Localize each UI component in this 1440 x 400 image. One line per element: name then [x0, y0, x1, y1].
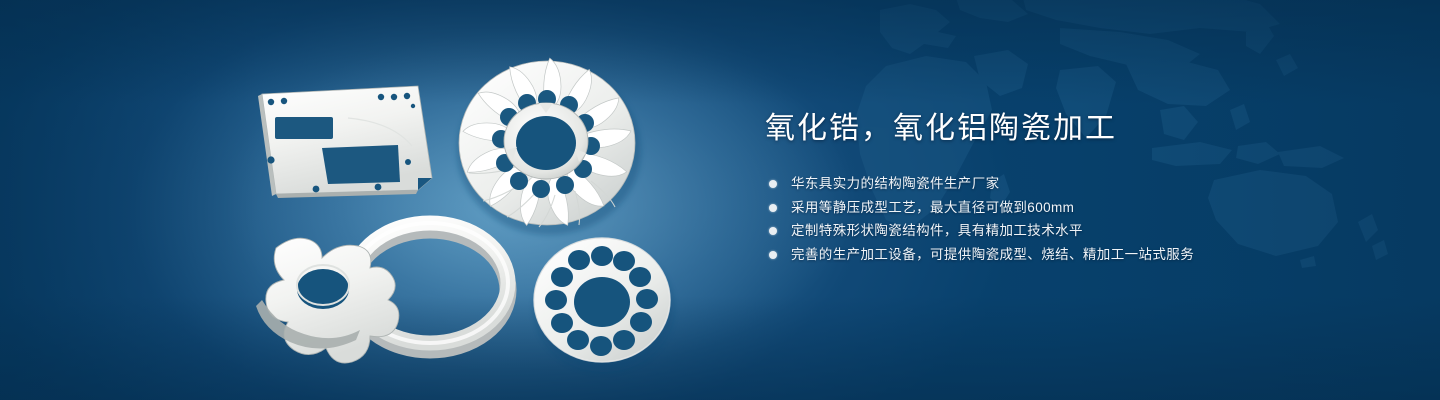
- feature-text: 完善的生产加工设备，可提供陶瓷成型、烧结、精加工一站式服务: [791, 247, 1194, 262]
- list-item: 定制特殊形状陶瓷结构件，具有精加工技术水平: [769, 219, 1385, 243]
- bullet-dot-icon: [769, 180, 777, 188]
- bullet-dot-icon: [769, 227, 777, 235]
- feature-text: 采用等静压成型工艺，最大直径可做到600mm: [791, 200, 1074, 215]
- banner-copy: 氧化锆，氧化铝陶瓷加工 华东具实力的结构陶瓷件生产厂家 采用等静压成型工艺，最大…: [765, 108, 1385, 266]
- feature-text: 华东具实力的结构陶瓷件生产厂家: [791, 176, 1000, 191]
- list-item: 完善的生产加工设备，可提供陶瓷成型、烧结、精加工一站式服务: [769, 243, 1385, 267]
- ceramic-products-image: [0, 0, 760, 400]
- ceramic-perforated-ring: [534, 238, 674, 372]
- feature-list: 华东具实力的结构陶瓷件生产厂家 采用等静压成型工艺，最大直径可做到600mm 定…: [769, 172, 1385, 266]
- list-item: 采用等静压成型工艺，最大直径可做到600mm: [769, 196, 1385, 220]
- ceramic-impeller-disc: [457, 58, 641, 235]
- page-title: 氧化锆，氧化铝陶瓷加工: [765, 108, 1385, 150]
- bullet-dot-icon: [769, 204, 777, 212]
- list-item: 华东具实力的结构陶瓷件生产厂家: [769, 172, 1385, 196]
- feature-text: 定制特殊形状陶瓷结构件，具有精加工技术水平: [791, 223, 1083, 238]
- bullet-dot-icon: [769, 251, 777, 259]
- ceramic-products-banner: 氧化锆，氧化铝陶瓷加工 华东具实力的结构陶瓷件生产厂家 采用等静压成型工艺，最大…: [0, 0, 1440, 400]
- ceramic-plate-with-cutouts: [258, 86, 432, 198]
